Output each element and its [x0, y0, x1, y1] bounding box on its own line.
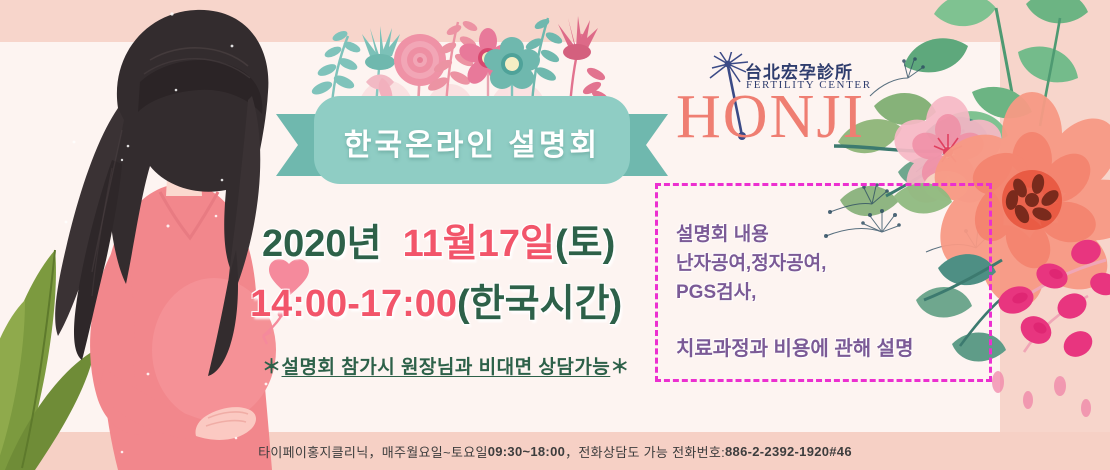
promotional-banner: 한국온라인 설명회 台北宏孕診所 FERTILITY CENTER HONJI — [0, 0, 1110, 470]
note-text: 설명회 참가시 원장님과 비대면 상담가능 — [282, 357, 611, 378]
pregnant-woman-illustration — [0, 0, 300, 470]
note-star-left: ＊ — [262, 357, 282, 378]
logo-wordmark: HONJI — [676, 86, 865, 148]
time-range: 14:00-17:00 — [250, 283, 457, 325]
time-zone: (한국시간) — [457, 283, 622, 325]
fern-teal — [310, 29, 362, 104]
footer-contact-bar: 타이페이홍지클리닉，매주월요일~토요일09:30~18:00，전화상담도 가능 … — [0, 432, 1110, 470]
info-line-1: 설명회 내용 — [676, 220, 976, 249]
date-weekday: (토) — [555, 223, 615, 265]
note-star-right: ＊ — [610, 357, 630, 378]
footer-clinic-text: 타이페이홍지클리닉，매주월요일~토요일 — [258, 442, 488, 461]
info-line-2: 난자공여,정자공여, — [676, 249, 976, 278]
event-date-line: 2020년 11월17일(토) — [262, 212, 615, 267]
consultation-note: ＊설명회 참가시 원장님과 비대면 상담가능＊ — [262, 352, 630, 379]
info-box-content: 설명회 내용 난자공여,정자공여, PGS검사, — [676, 220, 976, 307]
date-year: 2020년 — [262, 223, 382, 265]
petal-drips — [992, 371, 1091, 417]
ribbon-title: 한국온라인 설명회 — [276, 118, 668, 166]
footer-phone: 886-2-2392-1920#46 — [725, 444, 852, 459]
date-month-day: 11월17일 — [403, 223, 555, 265]
info-line-3: PGS검사, — [676, 278, 976, 307]
info-line-4: 치료과정과 비용에 관해 설명 — [676, 332, 986, 361]
event-time-line: 14:00-17:00(한국시간) — [250, 272, 622, 327]
footer-hours: 09:30~18:00 — [488, 444, 565, 459]
footer-mid-text: ，전화상담도 가능 전화번호: — [565, 442, 725, 461]
